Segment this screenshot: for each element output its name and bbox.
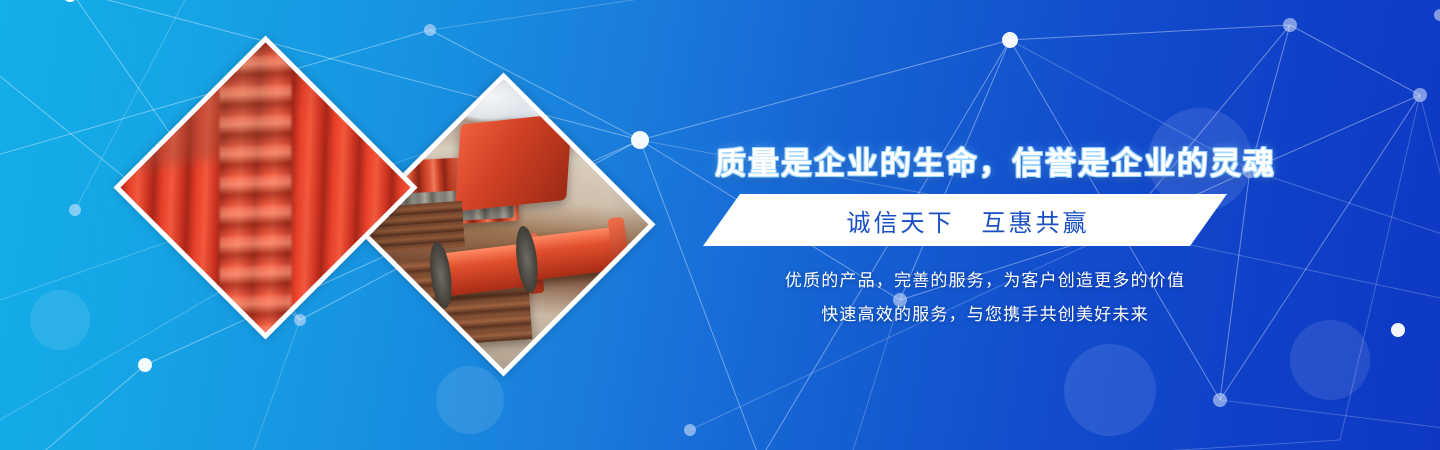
page-title: 质量是企业的生命，信誉是企业的灵魂 xyxy=(715,138,1255,183)
slogan-ribbon-text: 诚信天下 互惠共赢 xyxy=(841,203,1090,238)
slogan-ribbon: 诚信天下 互惠共赢 xyxy=(703,194,1227,246)
subtitle-line-1: 优质的产品，完善的服务，为客户创造更多的价值 xyxy=(715,266,1255,291)
promo-banner: 质量是企业的生命，信誉是企业的灵魂 诚信天下 互惠共赢 优质的产品，完善的服务，… xyxy=(0,0,1440,450)
subtitle-line-2: 快速高效的服务，与您携手共创美好未来 xyxy=(715,300,1255,325)
